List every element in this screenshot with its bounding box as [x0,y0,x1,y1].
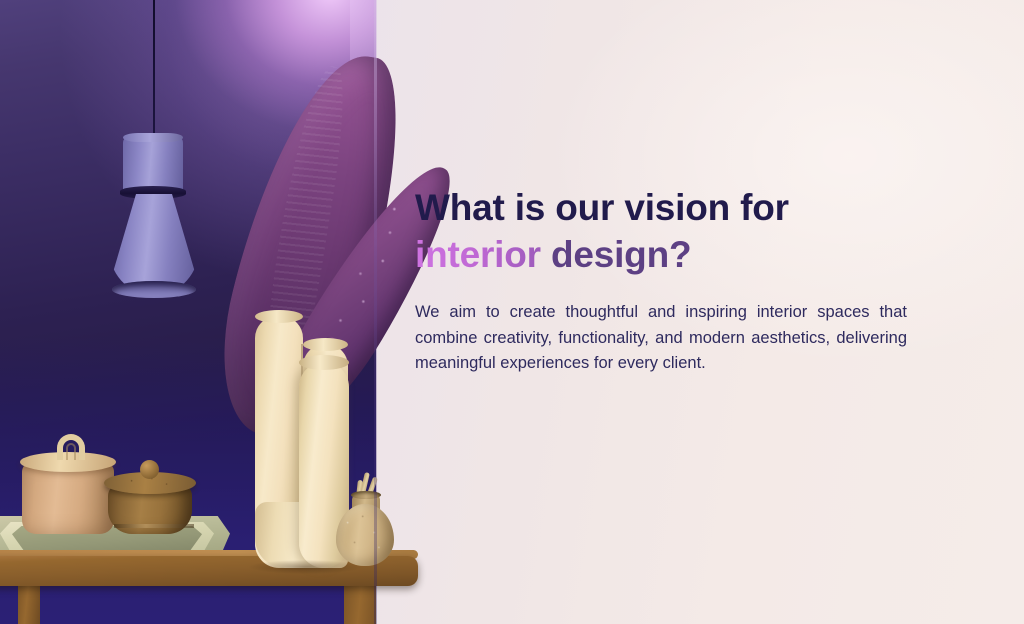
wooden-lidded-bowl [104,460,196,534]
lamp-cone-shade [109,194,199,294]
jar-arch-handle [57,434,85,460]
slide-canvas: What is our vision for interior design? … [0,0,1024,624]
tan-lidded-jar [20,438,116,534]
lamp-cylinder-top [123,136,183,192]
table-leg-left [18,584,40,624]
text-content-block: What is our vision for interior design? … [415,184,909,377]
lamp-shade-opening [112,281,196,298]
headline-accent-word: interior [415,234,541,275]
lamp-cord [153,0,155,140]
headline-line-2: interior design? [415,231,909,278]
body-paragraph: We aim to create thoughtful and inspirin… [415,300,907,377]
bowl-knob [140,460,159,479]
pendant-lamp [106,0,202,300]
bowl-ring-detail [114,524,194,528]
panel-divider-edge [374,0,377,624]
headline-trailing-word: design? [541,234,692,275]
page-title: What is our vision for interior design? [415,184,909,278]
headline-line-1: What is our vision for [415,184,909,231]
jar-body [22,462,114,534]
pot-body [336,504,394,566]
speckled-stoneware-pot [336,478,398,566]
